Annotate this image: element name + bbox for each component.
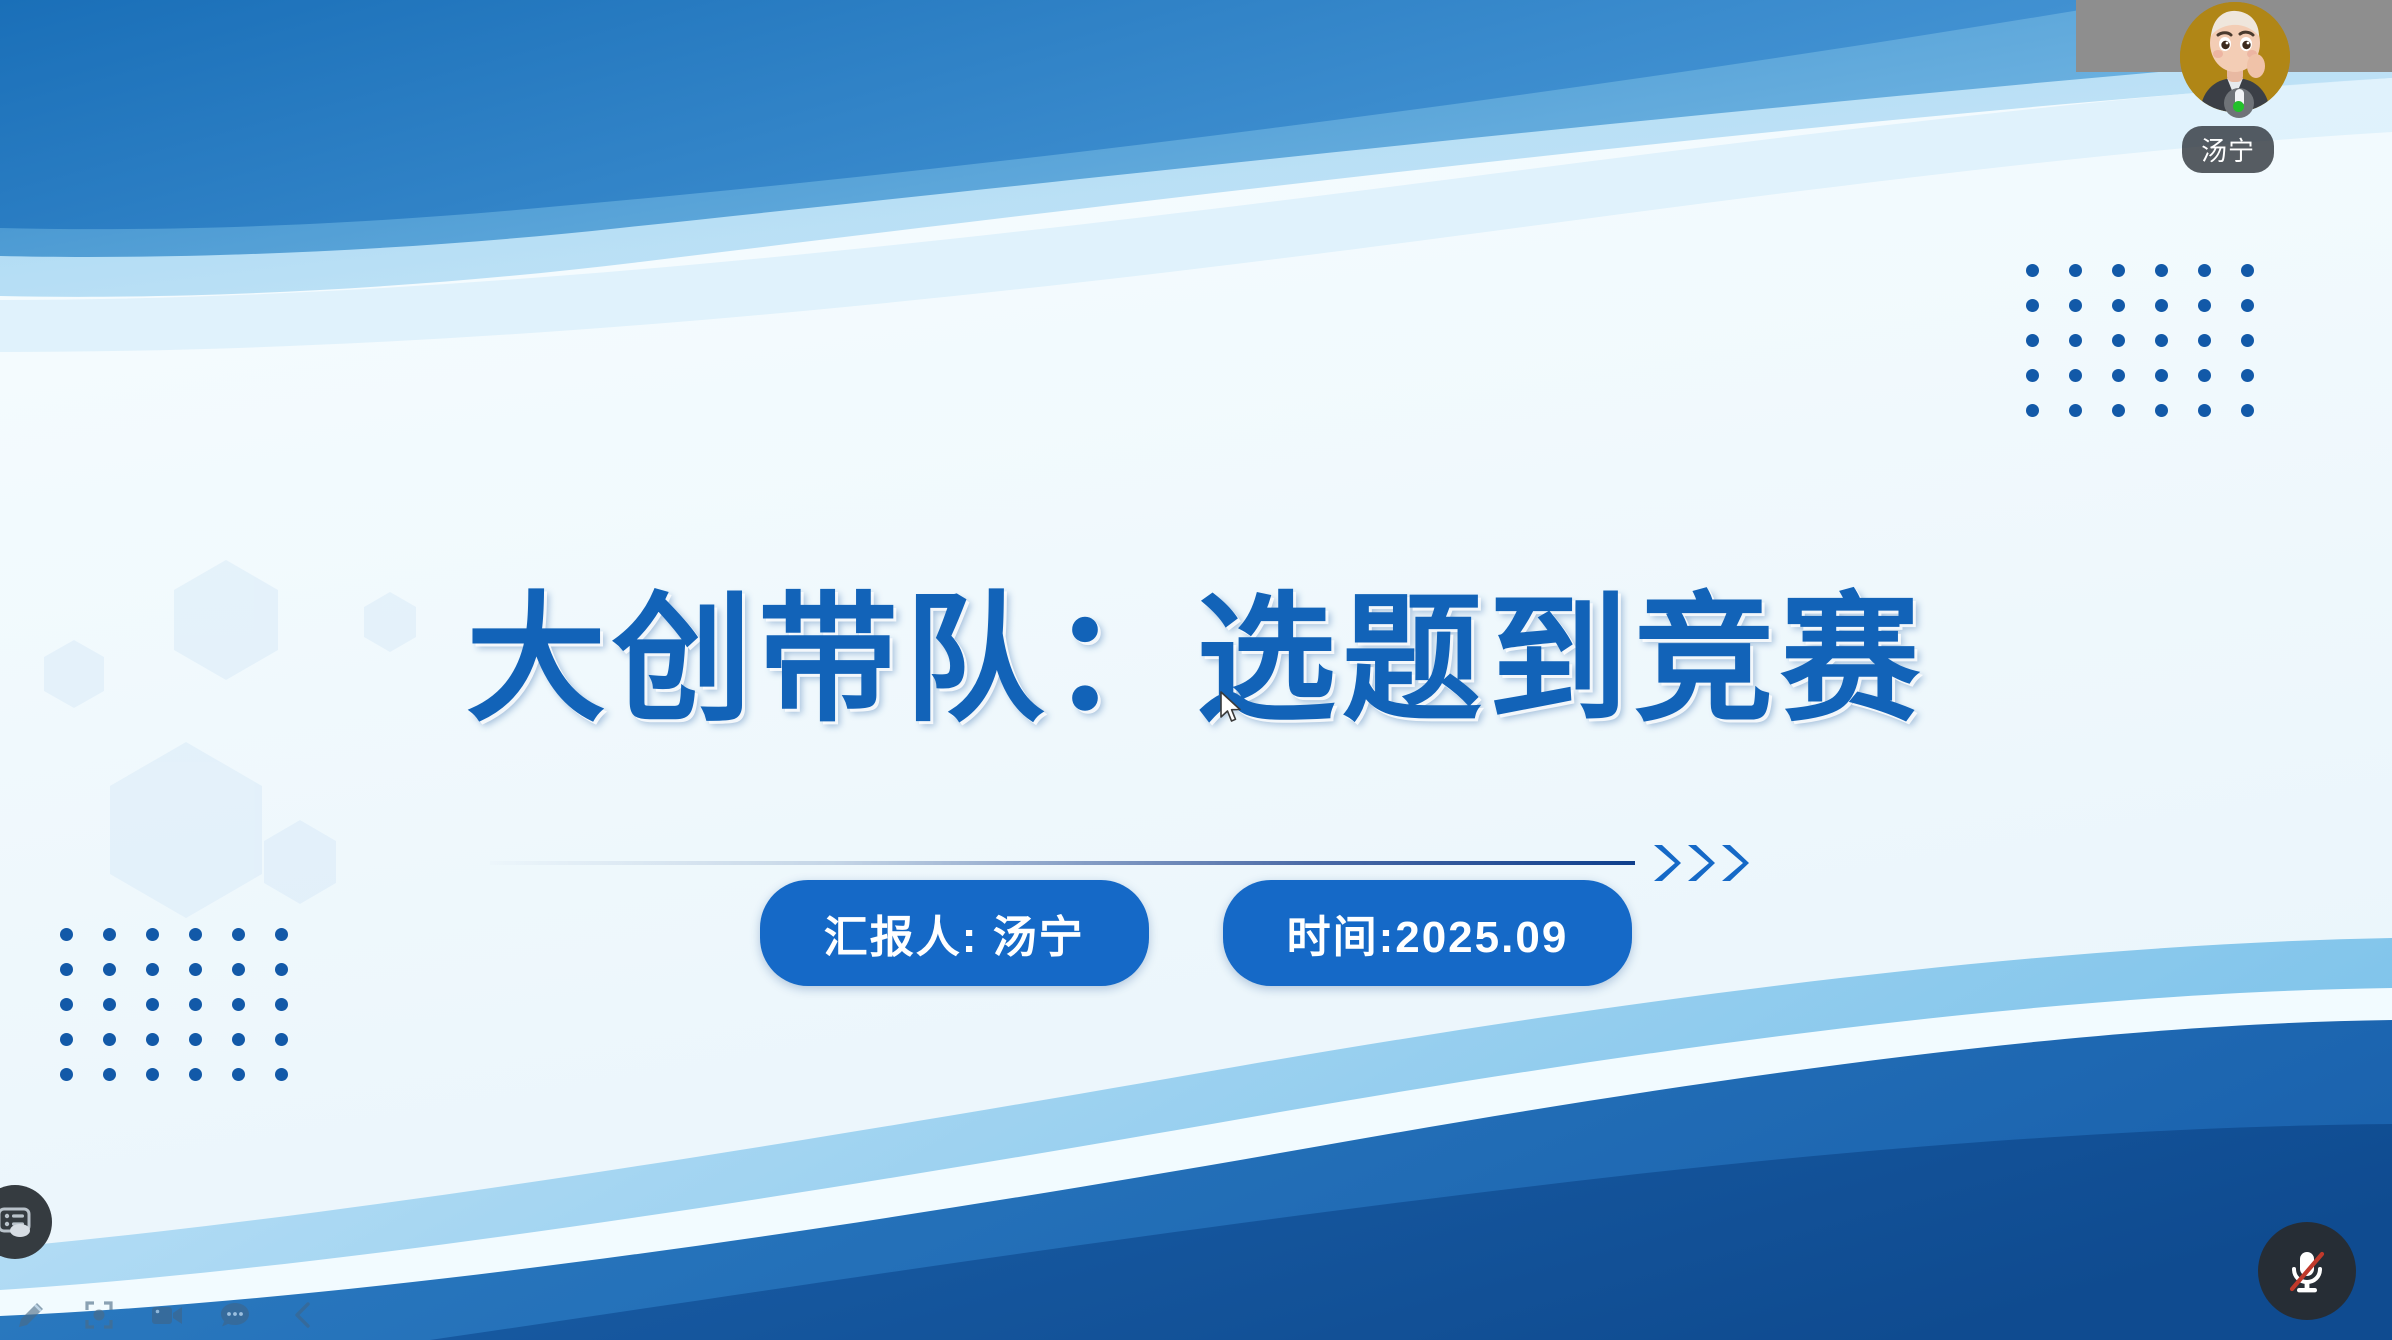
screenshot-icon [84, 1300, 114, 1330]
collapse-toolbar-button[interactable] [284, 1298, 322, 1332]
chevron-left-icon [293, 1302, 313, 1328]
video-icon [151, 1302, 183, 1328]
chevron-right-icon [1685, 841, 1715, 885]
meeting-screen-share-view: 大创带队：选题到竞赛 汇报人: 汤宁 时间:2025.09 [0, 0, 2392, 1340]
annotate-pen-button[interactable] [12, 1298, 50, 1332]
screenshot-button[interactable] [80, 1298, 118, 1332]
chevron-right-icon [1719, 841, 1749, 885]
date-badge: 时间:2025.09 [1223, 880, 1633, 986]
chevron-right-icon [1651, 841, 1681, 885]
presenter-badge: 汇报人: 汤宁 [760, 880, 1149, 986]
slide-title-block: 大创带队：选题到竞赛 [0, 590, 2392, 730]
pen-icon [16, 1300, 46, 1330]
participant-name-badge: 汤宁 [2182, 126, 2274, 173]
mic-status-indicator [2224, 88, 2254, 118]
dot-grid-top-right [2026, 264, 2254, 417]
mouse-cursor [1219, 691, 1245, 725]
bottom-toolbar [0, 1290, 322, 1340]
record-video-button[interactable] [148, 1298, 186, 1332]
chevron-group [1651, 841, 1749, 885]
chat-button[interactable] [216, 1298, 254, 1332]
slide-title: 大创带队：选题到竞赛 [0, 590, 2392, 730]
mute-button[interactable] [2258, 1222, 2356, 1320]
caption-icon [0, 1202, 35, 1242]
participant-overlay[interactable]: 汤宁 [2076, 0, 2392, 210]
mic-muted-icon [2279, 1243, 2335, 1299]
slide-meta-badges: 汇报人: 汤宁 时间:2025.09 [0, 880, 2392, 986]
title-underline [490, 861, 1635, 865]
chat-icon [220, 1301, 250, 1329]
